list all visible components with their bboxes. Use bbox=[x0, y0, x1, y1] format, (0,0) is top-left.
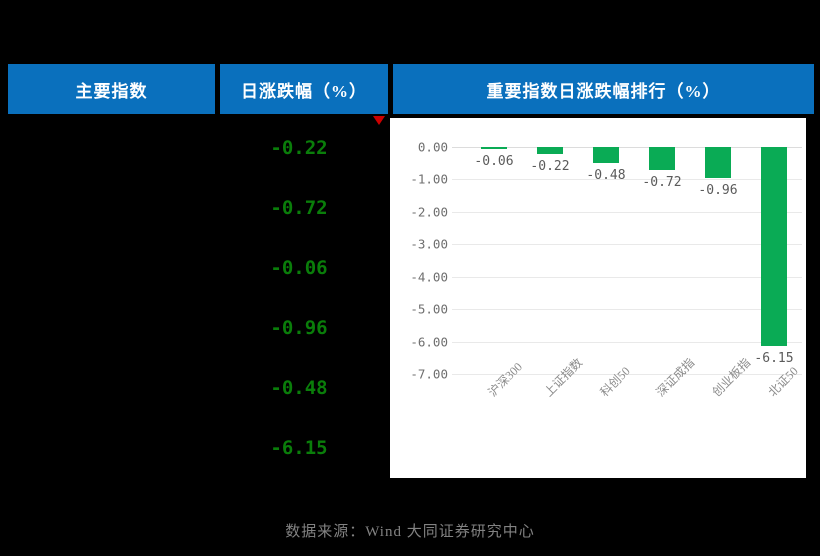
table-row: 创业板指 bbox=[8, 298, 215, 358]
bar bbox=[761, 147, 787, 346]
bar-data-label: -0.22 bbox=[530, 159, 569, 174]
daily-change-value: -0.72 bbox=[218, 178, 380, 238]
gridline bbox=[452, 309, 802, 310]
table-row: 深证成指 bbox=[8, 178, 215, 238]
slide-root: 主要指数 日涨跌幅（%） 重要指数日涨跌幅排行（%） 上证指数 深证成指 沪深3… bbox=[0, 0, 820, 556]
table-row: 科创50 bbox=[8, 358, 215, 418]
y-axis-tick-label: -2.00 bbox=[392, 204, 448, 219]
y-axis-tick-label: 0.00 bbox=[392, 140, 448, 155]
y-axis-tick-label: -3.00 bbox=[392, 237, 448, 252]
gridline bbox=[452, 244, 802, 245]
bar bbox=[649, 147, 675, 170]
table-header-main-indexes: 主要指数 bbox=[8, 64, 215, 114]
daily-change-value: -0.48 bbox=[218, 358, 380, 418]
bar bbox=[481, 147, 507, 149]
source-footer: 数据来源：Wind 大同证券研究中心 bbox=[0, 520, 820, 541]
bar-chart-panel: 0.00-1.00-2.00-3.00-4.00-5.00-6.00-7.00-… bbox=[390, 118, 806, 478]
bar bbox=[705, 147, 731, 178]
daily-change-column: -0.22 -0.72 -0.06 -0.96 -0.48 -6.15 bbox=[218, 118, 380, 478]
y-axis-tick-label: -5.00 bbox=[392, 302, 448, 317]
table-row: 北证50 bbox=[8, 418, 215, 478]
table-header-daily-change: 日涨跌幅（%） bbox=[220, 64, 388, 114]
daily-change-value: -0.96 bbox=[218, 298, 380, 358]
y-axis-tick-label: -6.00 bbox=[392, 334, 448, 349]
bar-data-label: -0.48 bbox=[586, 168, 625, 183]
table-row: 沪深300 bbox=[8, 238, 215, 298]
y-axis-tick-label: -4.00 bbox=[392, 269, 448, 284]
table-row: 上证指数 bbox=[8, 118, 215, 178]
gridline bbox=[452, 342, 802, 343]
bar-data-label: -0.96 bbox=[698, 183, 737, 198]
x-axis-tick-label: 创业板指 bbox=[708, 354, 754, 400]
x-axis-tick-label: 北证50 bbox=[764, 363, 801, 400]
bar bbox=[537, 147, 563, 154]
daily-change-value: -0.06 bbox=[218, 238, 380, 298]
table-header-chart-title: 重要指数日涨跌幅排行（%） bbox=[393, 64, 814, 114]
bar-data-label: -0.72 bbox=[642, 175, 681, 190]
x-axis-tick-label: 上证指数 bbox=[540, 354, 586, 400]
x-axis-tick-label: 沪深300 bbox=[484, 358, 526, 400]
red-triangle-marker-icon bbox=[373, 116, 385, 125]
daily-change-value: -0.22 bbox=[218, 118, 380, 178]
index-name-column: 上证指数 深证成指 沪深300 创业板指 科创50 北证50 bbox=[8, 118, 215, 478]
x-axis-tick-label: 深证成指 bbox=[652, 354, 698, 400]
bar-data-label: -0.06 bbox=[474, 154, 513, 169]
gridline bbox=[452, 212, 802, 213]
y-axis-tick-label: -1.00 bbox=[392, 172, 448, 187]
gridline bbox=[452, 277, 802, 278]
daily-change-value: -6.15 bbox=[218, 418, 380, 478]
gridline bbox=[452, 179, 802, 180]
bar bbox=[593, 147, 619, 163]
x-axis-tick-label: 科创50 bbox=[596, 363, 633, 400]
bar-chart-plot-area: 0.00-1.00-2.00-3.00-4.00-5.00-6.00-7.00-… bbox=[390, 118, 806, 478]
table-header-row: 主要指数 日涨跌幅（%） 重要指数日涨跌幅排行（%） bbox=[8, 64, 814, 114]
y-axis-tick-label: -7.00 bbox=[392, 367, 448, 382]
